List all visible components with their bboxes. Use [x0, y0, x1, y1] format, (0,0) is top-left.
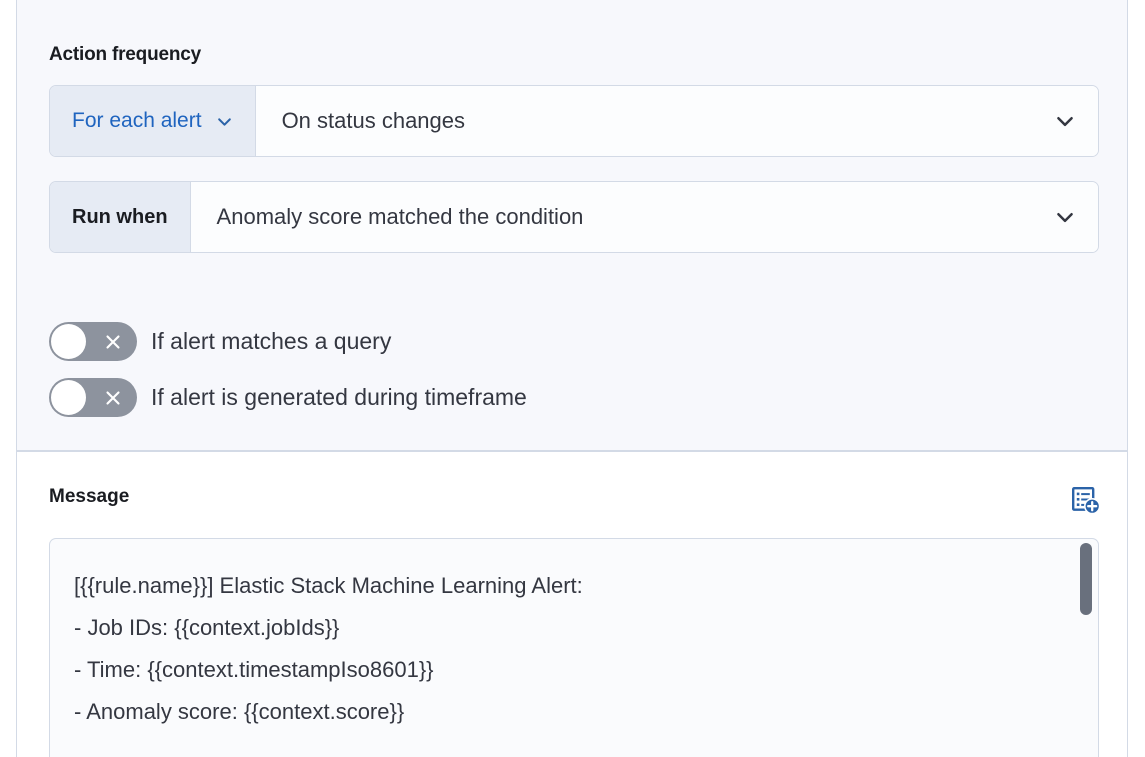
- summary-selector-label: For each alert: [72, 109, 202, 133]
- chevron-down-icon: [1054, 206, 1076, 228]
- panel-body: Action frequency For each alert On statu…: [16, 0, 1128, 757]
- run-when-value: Anomaly score matched the condition: [217, 204, 584, 230]
- chevron-down-icon: [1054, 110, 1076, 132]
- chevron-down-icon: [216, 113, 233, 130]
- action-configuration-panel: Action frequency For each alert On statu…: [0, 0, 1145, 757]
- alert-query-toggle-row: If alert matches a query: [49, 322, 391, 361]
- alert-timeframe-toggle[interactable]: [49, 378, 137, 417]
- message-title: Message: [49, 486, 129, 508]
- message-textarea[interactable]: [{{rule.name}}] Elastic Stack Machine Le…: [50, 539, 1098, 757]
- notify-when-row: For each alert On status changes: [49, 85, 1099, 157]
- run-when-label: Run when: [72, 206, 168, 229]
- message-scrollbar-thumb[interactable]: [1080, 543, 1092, 615]
- summary-selector-button[interactable]: For each alert: [50, 86, 256, 156]
- cross-icon: [103, 332, 123, 352]
- notify-when-select[interactable]: On status changes: [256, 86, 1098, 156]
- alert-query-toggle[interactable]: [49, 322, 137, 361]
- notify-when-value: On status changes: [282, 108, 465, 134]
- message-textarea-wrapper: [{{rule.name}}] Elastic Stack Machine Le…: [49, 538, 1099, 757]
- alert-query-toggle-label: If alert matches a query: [151, 328, 391, 355]
- alert-timeframe-toggle-row: If alert is generated during timeframe: [49, 378, 527, 417]
- cross-icon: [103, 388, 123, 408]
- action-frequency-title: Action frequency: [49, 44, 201, 66]
- add-variable-button[interactable]: [1069, 486, 1103, 520]
- toggle-knob: [51, 380, 86, 415]
- toggle-knob: [51, 324, 86, 359]
- action-frequency-section: Action frequency For each alert On statu…: [17, 0, 1127, 452]
- message-scrollbar-track[interactable]: [1078, 543, 1094, 757]
- run-when-row: Run when Anomaly score matched the condi…: [49, 181, 1099, 253]
- run-when-select[interactable]: Anomaly score matched the condition: [191, 182, 1098, 252]
- message-section: Message [{{r: [17, 454, 1127, 757]
- alert-timeframe-toggle-label: If alert is generated during timeframe: [151, 384, 527, 411]
- run-when-label-prepend: Run when: [50, 182, 191, 252]
- add-variable-icon: [1070, 485, 1102, 522]
